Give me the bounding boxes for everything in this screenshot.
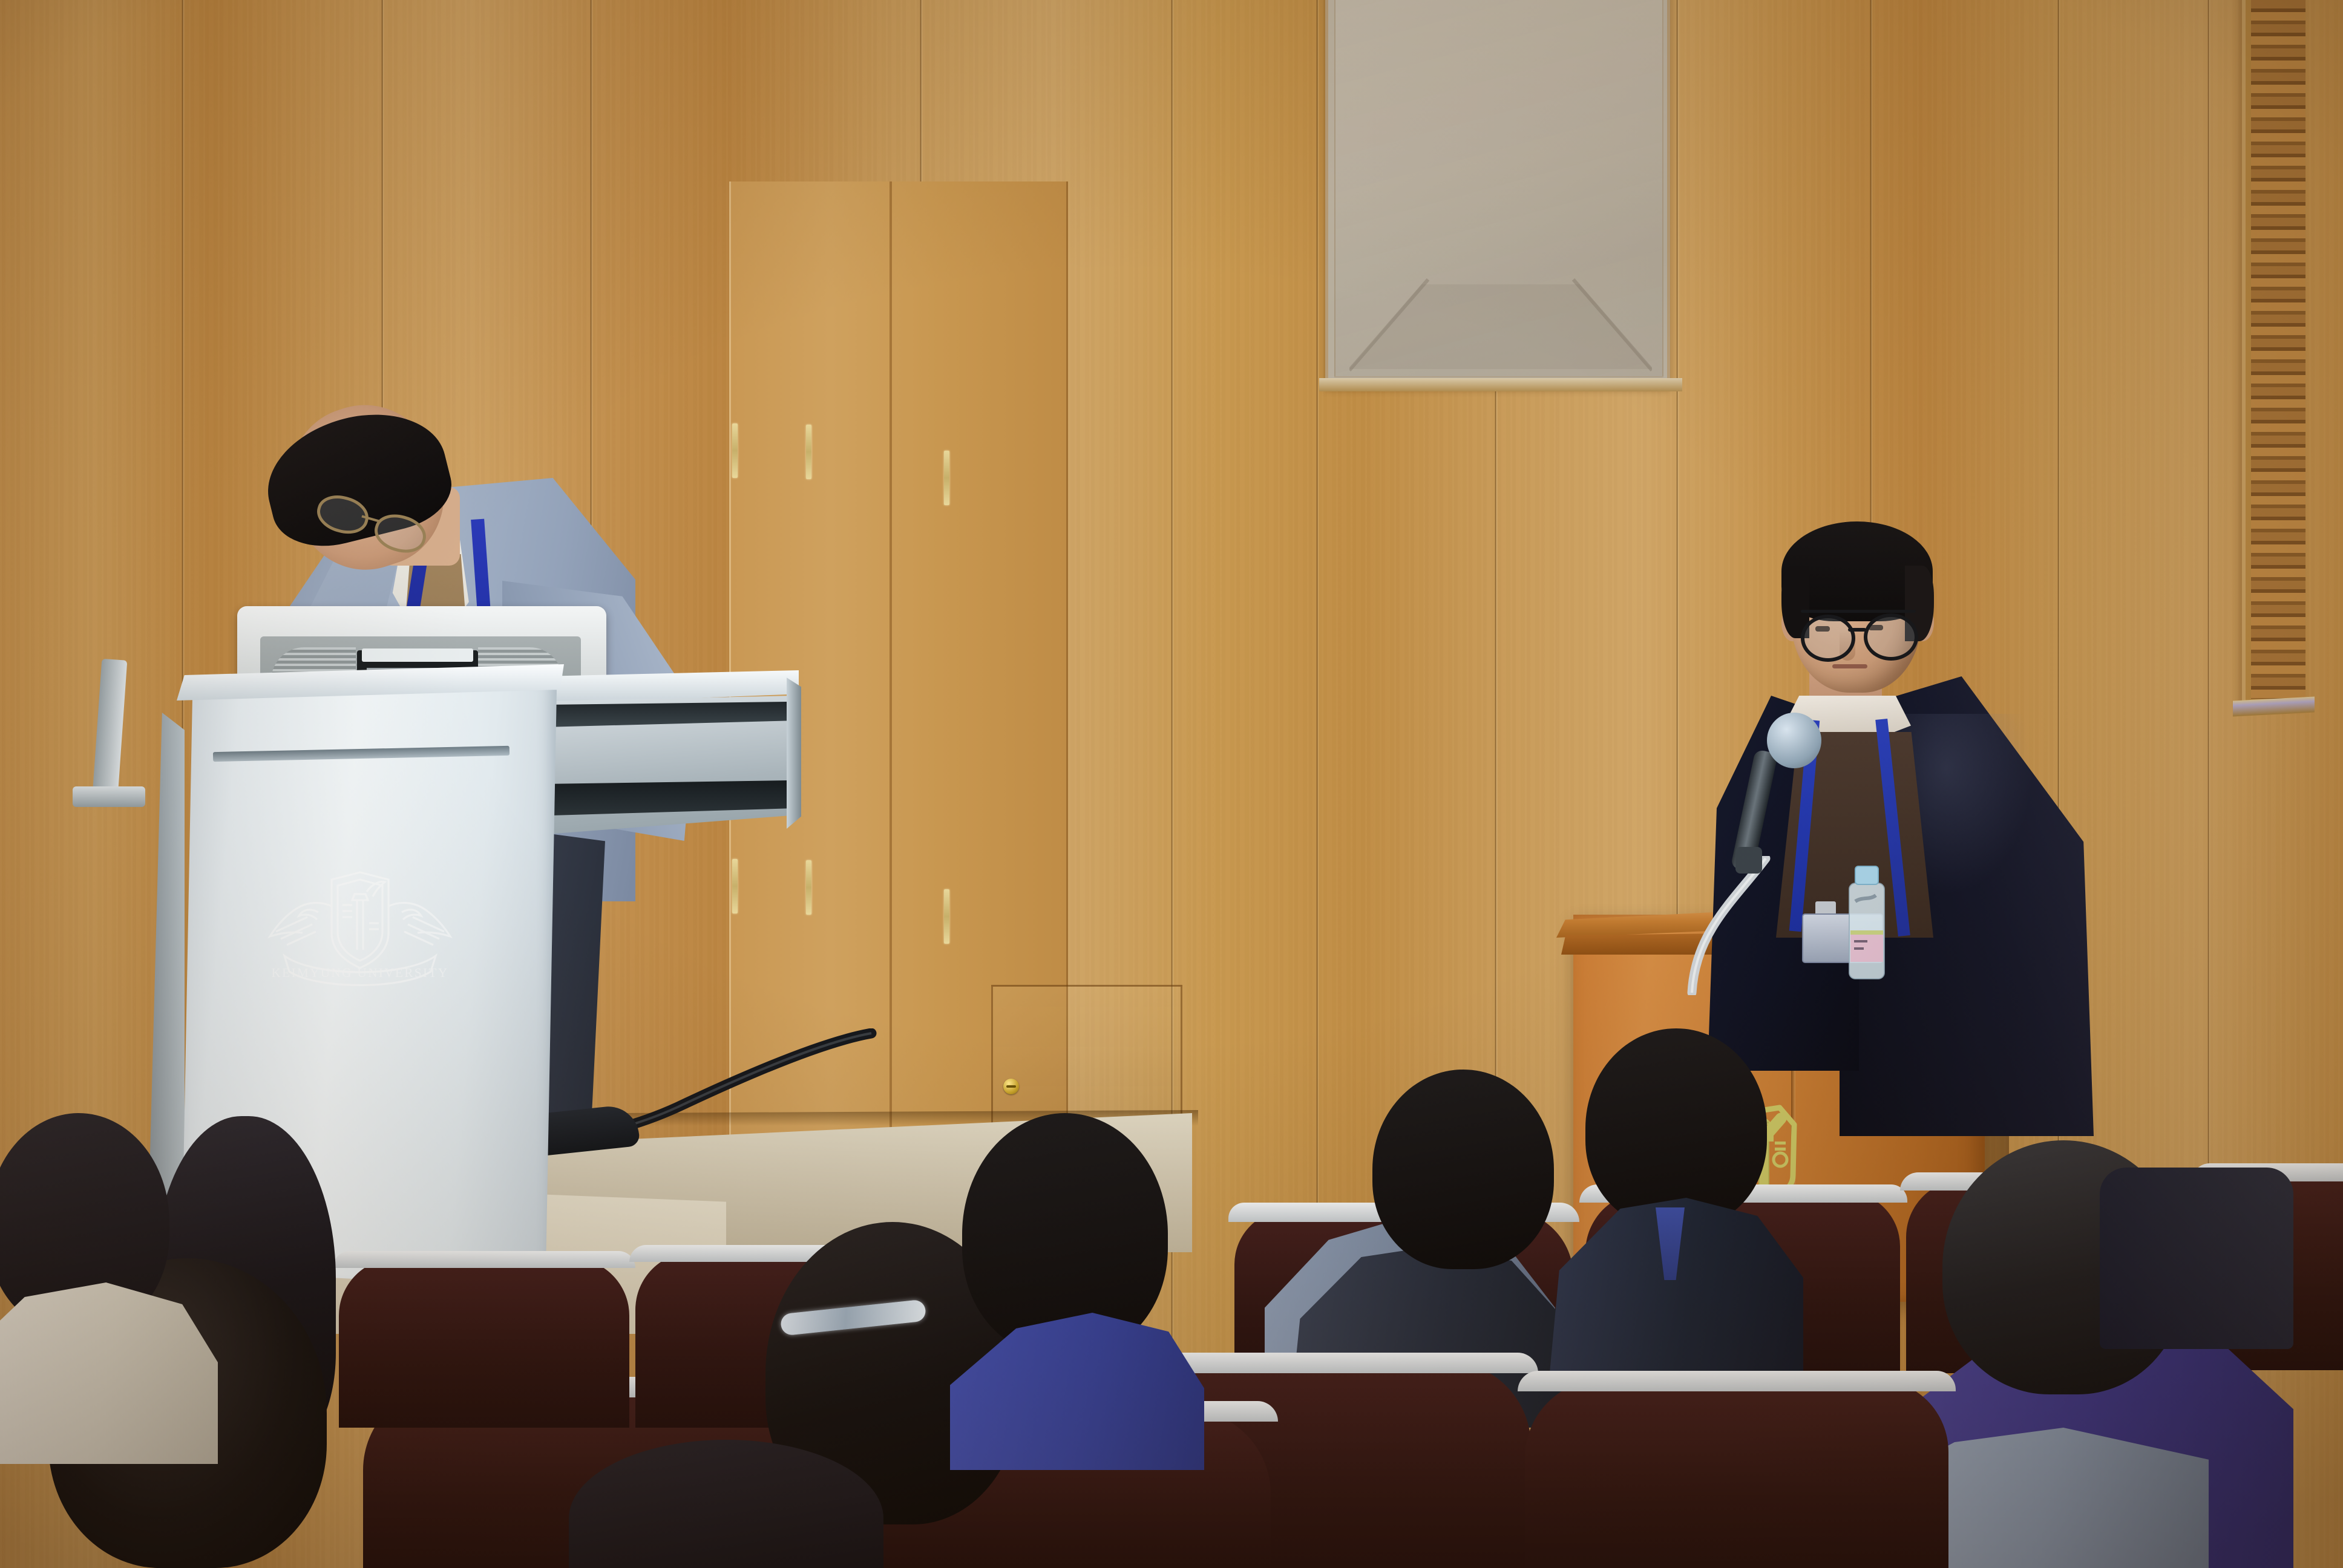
image-vignette	[0, 0, 2343, 1568]
auditorium-photo: KEIMYUNG UNIVERSITY 계명	[0, 0, 2343, 1568]
